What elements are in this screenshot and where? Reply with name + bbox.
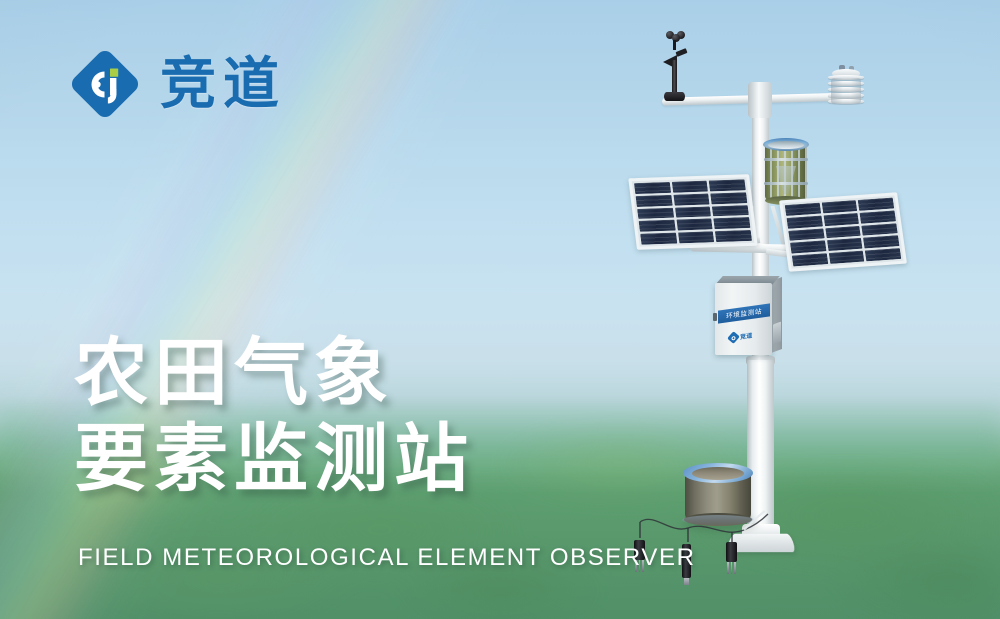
page-title: 农田气象 要素监测站 xyxy=(74,330,474,502)
page-title-line2: 要素监测站 xyxy=(74,416,474,502)
brand-logo: 竞道 xyxy=(66,45,286,123)
page-subtitle: FIELD METEOROLOGICAL ELEMENT OBSERVER xyxy=(78,544,696,572)
brand-name: 竞道 xyxy=(160,56,286,112)
page-title-line1: 农田气象 xyxy=(74,331,394,414)
jingdao-diamond-logo-icon xyxy=(66,45,144,123)
promo-banner: 竞道 xyxy=(0,0,1000,619)
